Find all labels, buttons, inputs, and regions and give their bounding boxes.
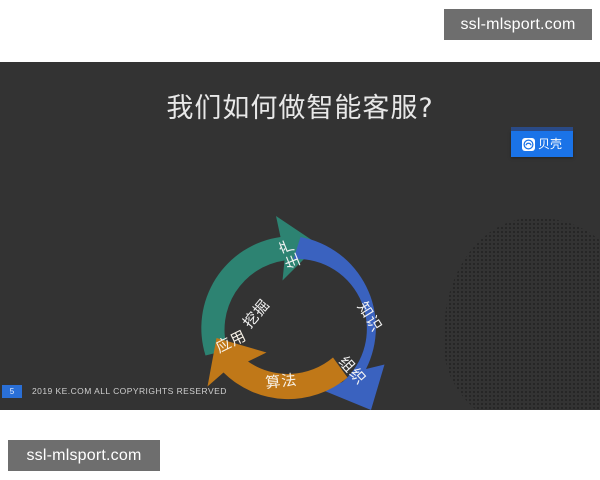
halftone-dot-texture-decoration <box>444 218 600 410</box>
watermark-bottom-left: ssl-mlsport.com <box>8 440 160 471</box>
page-number-badge: 5 <box>2 385 22 398</box>
page-title: 我们如何做智能客服? <box>0 86 600 125</box>
presentation-slide: 我们如何做智能客服? 贝壳 挖掘 <box>0 62 600 410</box>
badge-top-strip <box>511 127 573 131</box>
shell-circle-icon <box>522 138 535 151</box>
segment-label-blue-body: 知识 <box>354 299 386 336</box>
brand-label: 贝壳 <box>538 138 562 150</box>
segment-label-teal-body: 挖掘 <box>239 295 273 331</box>
cycle-diagram: 挖掘 生产 知识 组织 应用 算法 <box>181 214 409 410</box>
brand-badge-beike[interactable]: 贝壳 <box>511 131 573 157</box>
slide-footer: 5 2019 KE.COM ALL COPYRIGHTS RESERVED <box>0 384 600 398</box>
teal-arrow-shape <box>201 216 318 356</box>
copyright-text: 2019 KE.COM ALL COPYRIGHTS RESERVED <box>32 386 227 396</box>
diagram-segment-teal <box>201 216 318 356</box>
watermark-top-right: ssl-mlsport.com <box>444 9 592 40</box>
